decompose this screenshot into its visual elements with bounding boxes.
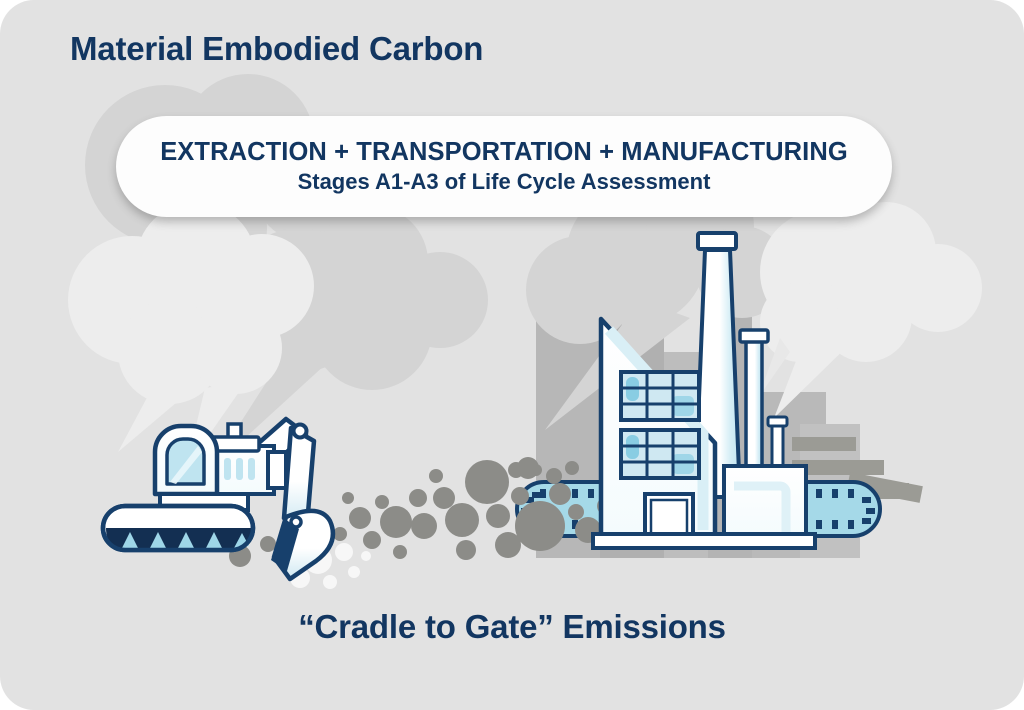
stage-banner: EXTRACTION + TRANSPORTATION + MANUFACTUR…	[116, 116, 892, 217]
excavator-tracks	[103, 506, 254, 550]
factory-base	[593, 534, 815, 548]
page-title: Material Embodied Carbon	[70, 30, 483, 68]
factory-window-lower	[621, 430, 699, 478]
excavator-boom-pivot	[294, 425, 307, 438]
factory-door	[645, 494, 693, 538]
banner-primary-text: EXTRACTION + TRANSPORTATION + MANUFACTUR…	[160, 138, 848, 167]
factory-side-block	[724, 466, 806, 538]
page-caption: “Cradle to Gate” Emissions	[0, 608, 1024, 646]
banner-secondary-text: Stages A1-A3 of Life Cycle Assessment	[298, 169, 711, 195]
excavator-engine-block	[208, 446, 286, 494]
excavator-cab	[155, 426, 217, 494]
emissions-illustration	[0, 0, 1024, 710]
factory-window-upper	[621, 372, 699, 420]
infographic-card: Material Embodied Carbon EXTRACTION + TR…	[0, 0, 1024, 710]
excavator	[103, 419, 333, 579]
